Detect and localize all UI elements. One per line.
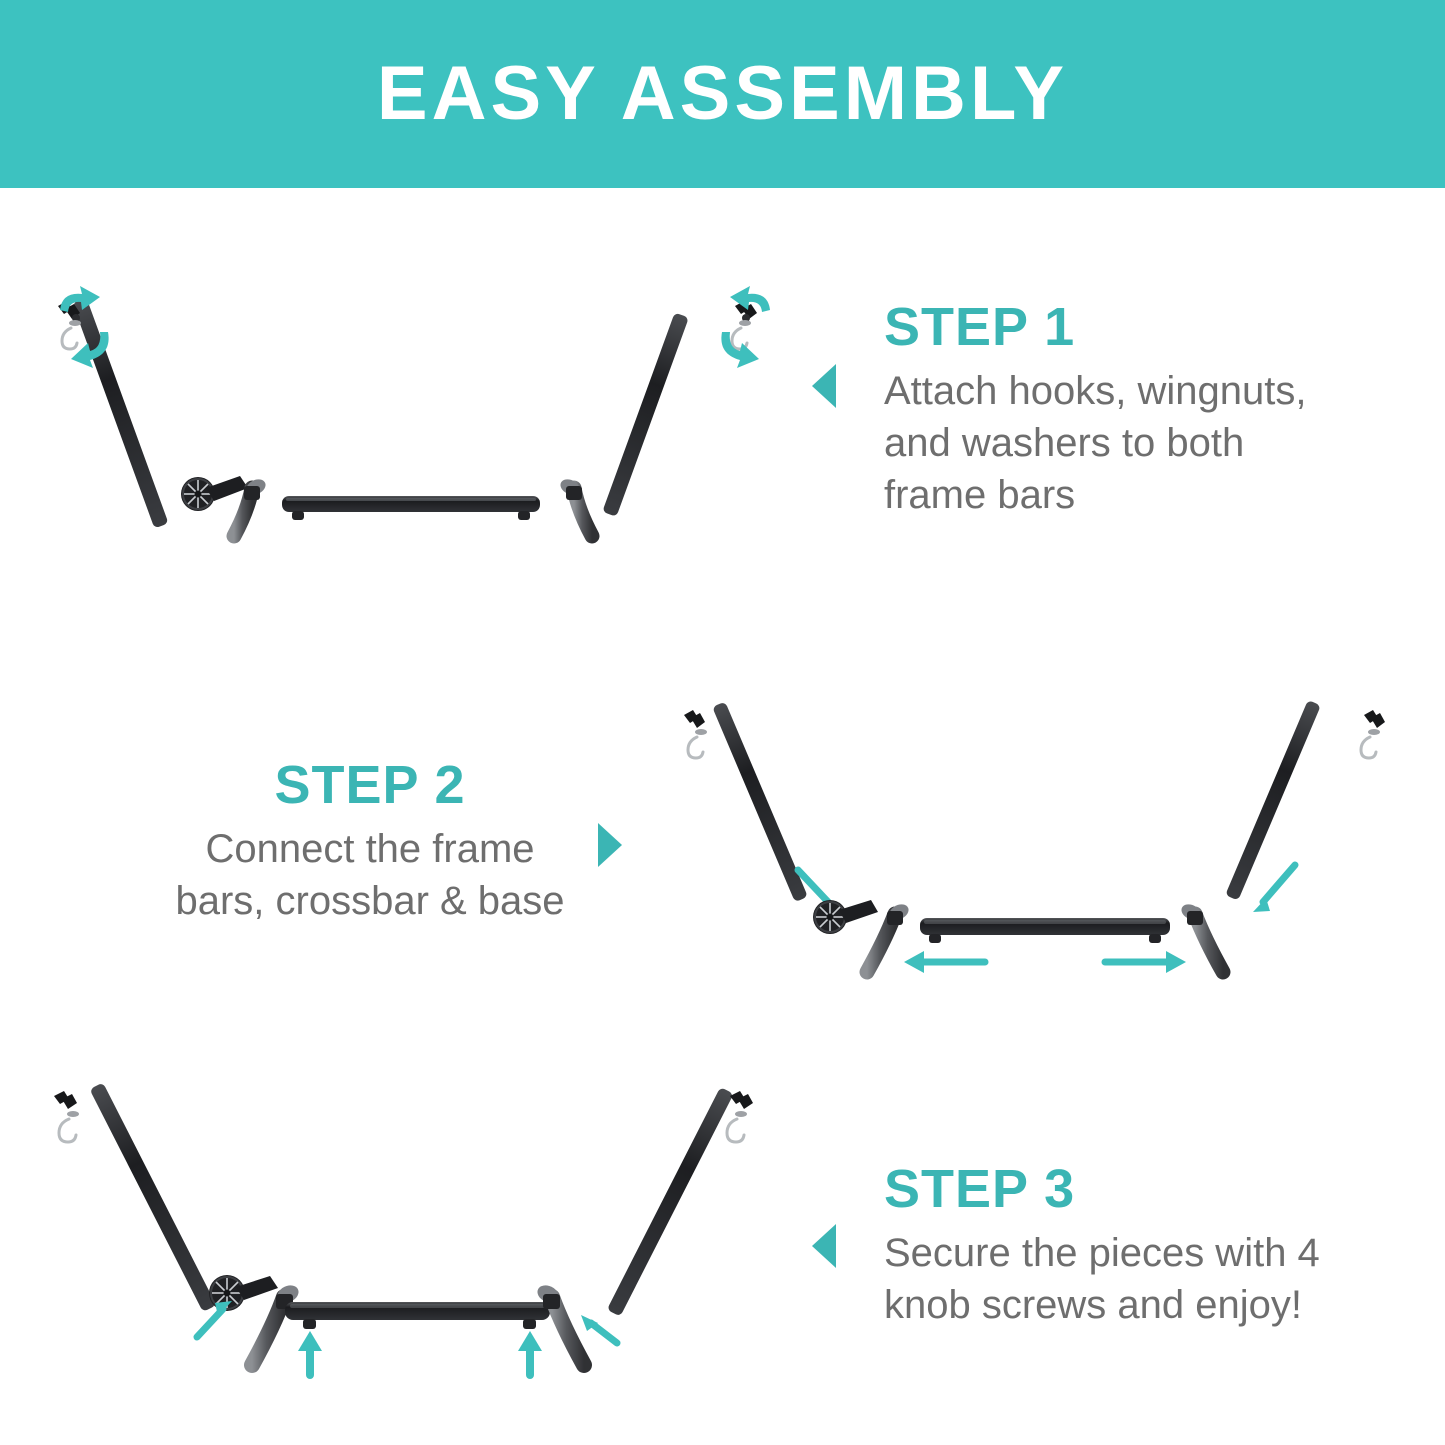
step-3-description: Secure the pieces with 4 knob screws and…	[884, 1227, 1384, 1331]
step-1-pointer-triangle-icon	[812, 364, 836, 408]
page-title: EASY ASSEMBLY	[377, 56, 1068, 132]
knob-screw-arrow-right	[518, 1331, 542, 1375]
crossbar-right-arrow	[1105, 951, 1186, 973]
knob-screw-icon	[303, 1319, 316, 1329]
knob-screw-icon	[292, 511, 304, 520]
right-slide-arrow	[1253, 865, 1295, 912]
crossbar	[285, 1302, 550, 1329]
step-2-heading: STEP 2	[160, 758, 580, 813]
knob-screw-icon	[518, 511, 530, 520]
step-3-heading: STEP 3	[884, 1162, 1384, 1217]
knob-screw-arrow-left	[298, 1331, 322, 1375]
washer-icon	[739, 320, 751, 326]
left-frame-bar	[58, 298, 169, 529]
header-banner: EASY ASSEMBLY	[0, 0, 1445, 188]
hook-icon	[727, 1119, 744, 1142]
crossbar	[920, 918, 1170, 943]
step-2-pointer-triangle-icon	[598, 823, 622, 867]
washer-icon	[67, 1111, 79, 1117]
knob-screw-icon	[1149, 934, 1161, 943]
step-3-pointer-triangle-icon	[812, 1224, 836, 1268]
knob-screw-arrow-right-frame	[581, 1315, 617, 1343]
hook-icon	[59, 1119, 76, 1142]
right-leg	[535, 1282, 584, 1365]
washer-icon	[695, 729, 707, 735]
step-3-illustration	[25, 1075, 795, 1405]
step-3-text-block: STEP 3 Secure the pieces with 4 knob scr…	[884, 1162, 1384, 1331]
right-leg	[558, 476, 592, 536]
hook-icon	[62, 328, 77, 349]
left-frame-bar	[684, 702, 808, 903]
washer-icon	[735, 1111, 747, 1117]
step-2-text-block: STEP 2 Connect the frame bars, crossbar …	[160, 758, 580, 927]
washer-icon	[69, 320, 81, 326]
step-1-text-block: STEP 1 Attach hooks, wingnuts, and washe…	[884, 300, 1354, 521]
crossbar-left-arrow	[904, 951, 985, 973]
step-1-heading: STEP 1	[884, 300, 1354, 355]
right-rotation-arrows	[721, 286, 770, 368]
washer-icon	[1368, 729, 1380, 735]
knob-screw-icon	[929, 934, 941, 943]
step-2-description: Connect the frame bars, crossbar & base	[160, 823, 580, 927]
right-frame-bar	[607, 1087, 753, 1317]
step-2-illustration	[655, 690, 1420, 1010]
right-frame-bar	[1225, 700, 1385, 901]
knob-screw-icon	[523, 1319, 536, 1329]
crossbar	[282, 496, 540, 520]
hook-icon	[688, 737, 703, 758]
right-leg	[1179, 901, 1223, 972]
wheel	[813, 900, 847, 934]
step-1-illustration	[30, 280, 820, 590]
hook-icon	[1361, 737, 1376, 758]
right-frame-bar	[602, 301, 757, 517]
left-frame-bar	[54, 1082, 216, 1312]
step-1-description: Attach hooks, wingnuts, and washers to b…	[884, 365, 1354, 521]
infographic-page: EASY ASSEMBLY	[0, 0, 1445, 1445]
